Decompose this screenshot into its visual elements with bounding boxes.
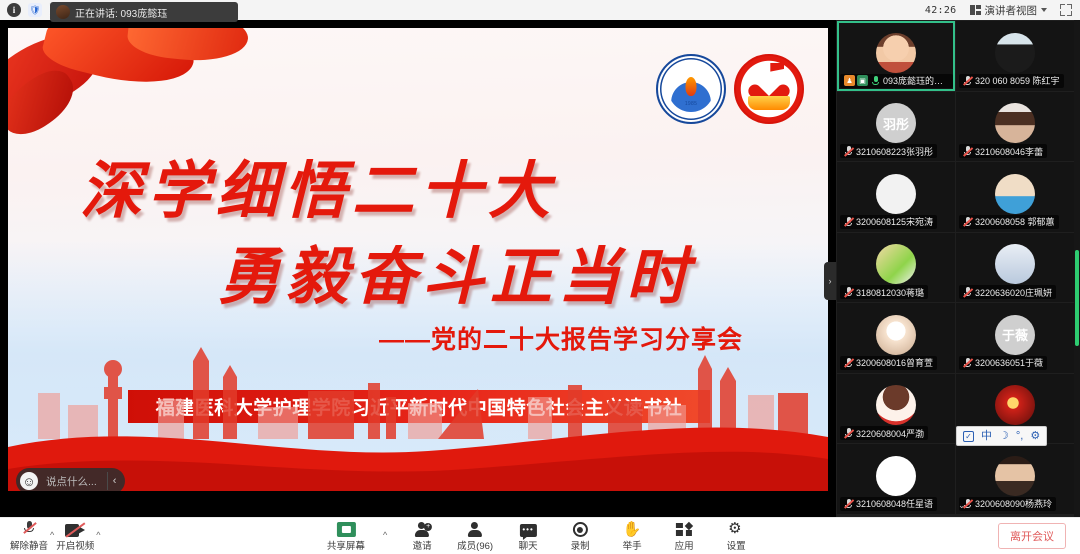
participant-name: 3180812030蒋璐 <box>856 286 924 299</box>
meeting-toolbar: 解除静音 ^ 开启视频 ^ 共享屏幕 ^ + 邀请 <box>0 517 1080 554</box>
avatar <box>995 103 1035 143</box>
avatar <box>876 33 916 73</box>
microphone-on-icon <box>871 75 880 86</box>
slide-title-line2: 勇毅奋斗正当时 <box>218 226 694 316</box>
presentation-slide: 1985 深学细悟二十大 勇毅奋斗正当时 ——党的二十大报告学习分享会 福建医科… <box>8 28 828 491</box>
microphone-muted-icon <box>23 520 36 537</box>
avatar-image <box>995 244 1035 284</box>
microphone-muted-icon <box>963 146 972 157</box>
meeting-timer: 42:26 <box>925 5 957 16</box>
chat-button[interactable]: ••• 聊天 <box>511 520 545 552</box>
participant-name: 3220636020庄珮妍 <box>975 286 1052 299</box>
participant-name: 3200608090杨燕玲 <box>975 497 1052 510</box>
participant-tile[interactable]: 3220636020庄珮妍 <box>956 233 1074 303</box>
microphone-muted-icon <box>963 216 972 227</box>
participant-name: 3210608223张羽彤 <box>856 145 933 158</box>
floating-chat-input[interactable]: ☺ 说点什么... ‹ <box>16 468 125 491</box>
participant-name-badge: 3200636051于薇 <box>959 356 1047 370</box>
sidebar-scrollbar-thumb[interactable] <box>1075 250 1079 346</box>
microphone-muted-icon <box>844 216 853 227</box>
info-icon[interactable]: i <box>7 3 21 17</box>
ime-settings-gear-icon[interactable]: ⚙ <box>1030 431 1040 442</box>
participant-name-badge: 320 060 8059 陈红宇 <box>959 74 1064 88</box>
chevron-down-icon[interactable]: ⌄ <box>958 500 966 511</box>
share-options-chevron-icon[interactable]: ^ <box>383 530 387 552</box>
participant-name-badge: 3200608058 郭郁蕙 <box>959 215 1059 229</box>
avatar-image <box>876 244 916 284</box>
participant-name-badge: 3210608223张羽彤 <box>840 144 937 158</box>
microphone-muted-icon <box>963 357 972 368</box>
ime-punctuation-icon[interactable]: °, <box>1016 431 1023 442</box>
invite-label: 邀请 <box>413 538 432 552</box>
ime-moon-icon[interactable]: ☽ <box>999 431 1009 442</box>
start-video-button[interactable]: 开启视频 <box>56 520 94 552</box>
avatar-image <box>876 385 916 425</box>
ime-toolbar[interactable]: ✓ 中 ☽ °, ⚙ <box>956 426 1047 446</box>
avatar: 羽彤 <box>876 103 916 143</box>
avatar: 于薇 <box>995 315 1035 355</box>
participant-name: 3210608048任星语 <box>856 497 933 510</box>
gear-icon: ⚙ <box>728 520 744 537</box>
participant-tile[interactable]: 3210608048任星语 <box>837 444 955 514</box>
participant-name: 320 060 8059 陈红宇 <box>975 74 1060 87</box>
avatar <box>876 174 916 214</box>
participant-name-badge: 3200608125宋宛涛 <box>840 215 937 229</box>
invite-person-icon: + <box>414 520 430 537</box>
participant-name: 3200636051于薇 <box>975 356 1043 369</box>
share-screen-label: 共享屏幕 <box>327 538 365 552</box>
participants-icon <box>467 520 483 537</box>
record-icon <box>573 520 588 537</box>
chat-input-placeholder[interactable]: 说点什么... <box>38 474 107 489</box>
active-speaker-label: 正在讲话: 093庞懿珏 <box>75 5 167 20</box>
settings-button[interactable]: ⚙ 设置 <box>719 520 753 552</box>
participant-tile[interactable]: 320 060 8059 陈红宇 <box>956 21 1074 91</box>
apps-button[interactable]: 应用 <box>667 520 701 552</box>
participant-name-badge: 3210608048任星语 <box>840 497 937 511</box>
participant-tile[interactable]: 3220608004严渤 <box>837 374 955 444</box>
chat-label: 聊天 <box>519 538 538 552</box>
avatar <box>995 174 1035 214</box>
participants-label: 成员(96) <box>457 538 493 552</box>
apps-label: 应用 <box>675 538 694 552</box>
avatar <box>876 456 916 496</box>
speaker-avatar <box>56 5 70 19</box>
raise-hand-button[interactable]: ✋ 举手 <box>615 520 649 552</box>
microphone-muted-icon <box>844 287 853 298</box>
avatar-image <box>876 174 916 214</box>
participant-name: 3200608016曾育萱 <box>856 356 933 369</box>
participant-name-badge: 3180812030蒋璐 <box>840 285 928 299</box>
start-video-label: 开启视频 <box>56 538 94 552</box>
record-button[interactable]: 录制 <box>563 520 597 552</box>
red-wave-ribbon <box>8 403 828 491</box>
participant-name: 3200608125宋宛涛 <box>856 215 933 228</box>
unmute-button[interactable]: 解除静音 <box>10 520 48 552</box>
microphone-muted-icon <box>963 75 972 86</box>
participant-name: 3220608004严渤 <box>856 427 924 440</box>
apps-grid-icon <box>676 520 693 537</box>
microphone-muted-icon <box>963 287 972 298</box>
participant-name-badge: 3210608046李蕾 <box>959 144 1047 158</box>
participant-tile[interactable]: ♟▣093庞懿珏的屏幕... <box>837 21 955 91</box>
share-screen-icon <box>336 520 355 537</box>
avatar-image <box>876 315 916 355</box>
chat-collapse-icon[interactable]: ‹ <box>107 472 122 490</box>
fullscreen-icon[interactable] <box>1060 4 1072 16</box>
avatar-image <box>876 33 916 73</box>
settings-label: 设置 <box>727 538 746 552</box>
unmute-label: 解除静音 <box>10 538 48 552</box>
ime-checkbox-icon[interactable]: ✓ <box>963 431 974 442</box>
avatar <box>995 456 1035 496</box>
view-mode-label: 演讲者视图 <box>985 3 1038 18</box>
participant-tile[interactable]: 3200608016曾育萱 <box>837 303 955 373</box>
participant-tile[interactable]: 3200608090杨燕玲⌄ <box>956 444 1074 514</box>
participant-name-badge: ♟▣093庞懿珏的屏幕... <box>840 74 953 88</box>
share-screen-button[interactable]: 共享屏幕 <box>327 520 365 552</box>
participants-button[interactable]: 成员(96) <box>457 520 493 552</box>
avatar-image <box>995 103 1035 143</box>
avatar <box>876 385 916 425</box>
audio-options-chevron-icon[interactable]: ^ <box>50 530 54 552</box>
participant-name: 093庞懿珏的屏幕... <box>883 74 949 87</box>
participant-name: 3210608046李蕾 <box>975 145 1043 158</box>
video-options-chevron-icon[interactable]: ^ <box>96 530 100 552</box>
screen-share-icon: ▣ <box>857 75 868 86</box>
shield-icon[interactable]: 🛡 <box>28 3 42 17</box>
avatar <box>876 244 916 284</box>
record-label: 录制 <box>571 538 590 552</box>
avatar-image <box>876 456 916 496</box>
participant-name: 3200608058 郭郁蕙 <box>975 215 1055 228</box>
participant-tile[interactable]: 3180812030蒋璐 <box>837 233 955 303</box>
leave-meeting-button[interactable]: 离开会议 <box>998 523 1066 549</box>
avatar <box>876 315 916 355</box>
sidebar-collapse-handle[interactable]: › <box>824 262 836 300</box>
avatar-image <box>995 456 1035 496</box>
avatar-image <box>995 174 1035 214</box>
microphone-muted-icon <box>844 498 853 509</box>
toolbar-left-group: 解除静音 ^ 开启视频 ^ <box>0 520 101 552</box>
avatar <box>995 385 1035 425</box>
participant-name-badge: 3200608090杨燕玲 <box>959 497 1056 511</box>
toolbar-right-group: 离开会议 <box>998 523 1080 549</box>
host-icon: ♟ <box>844 75 855 86</box>
avatar-image <box>995 33 1035 73</box>
chat-bubble-icon: ••• <box>520 520 537 537</box>
avatar <box>995 244 1035 284</box>
microphone-muted-icon <box>844 428 853 439</box>
participant-tile[interactable]: 羽彤3210608223张羽彤 <box>837 92 955 162</box>
host-badges: ♟▣ <box>844 75 868 86</box>
titlebar-right-controls: 42:26 演讲者视图 <box>925 2 1080 19</box>
view-mode-selector[interactable]: 演讲者视图 <box>966 2 1052 19</box>
participant-name-badge: 3220636020庄珮妍 <box>959 285 1056 299</box>
participant-name-badge: 3220608004严渤 <box>840 426 928 440</box>
invite-button[interactable]: + 邀请 <box>405 520 439 552</box>
microphone-muted-icon <box>844 357 853 368</box>
raise-hand-icon: ✋ <box>623 520 642 537</box>
participant-tile[interactable]: 于薇3200636051于薇 <box>956 303 1074 373</box>
sidebar-scrollbar[interactable] <box>1074 20 1080 517</box>
layout-icon <box>970 5 981 15</box>
microphone-muted-icon <box>844 146 853 157</box>
raise-hand-label: 举手 <box>623 538 642 552</box>
shared-screen-stage[interactable]: 1985 深学细悟二十大 勇毅奋斗正当时 ——党的二十大报告学习分享会 福建医科… <box>0 20 836 517</box>
active-speaker-banner: 正在讲话: 093庞懿珏 <box>50 2 238 22</box>
avatar-image <box>995 385 1035 425</box>
ime-language-icon[interactable]: 中 <box>981 431 992 442</box>
slide-title-line1: 深学细悟二十大 <box>80 140 556 230</box>
participant-tile[interactable]: 3210608046李蕾 <box>956 92 1074 162</box>
avatar <box>995 33 1035 73</box>
emoji-icon[interactable]: ☺ <box>20 472 38 490</box>
chevron-down-icon <box>1041 8 1047 12</box>
toolbar-center-group: 共享屏幕 ^ + 邀请 成员(96) ••• 聊天 录制 <box>327 520 753 552</box>
participant-tile[interactable]: 3200608058 郭郁蕙 <box>956 162 1074 232</box>
participant-tile[interactable]: 3200608125宋宛涛 <box>837 162 955 232</box>
camera-off-icon <box>65 520 85 537</box>
meeting-window: i 🛡 📈 42:26 演讲者视图 1 <box>0 0 1080 554</box>
participant-name-badge: 3200608016曾育萱 <box>840 356 937 370</box>
